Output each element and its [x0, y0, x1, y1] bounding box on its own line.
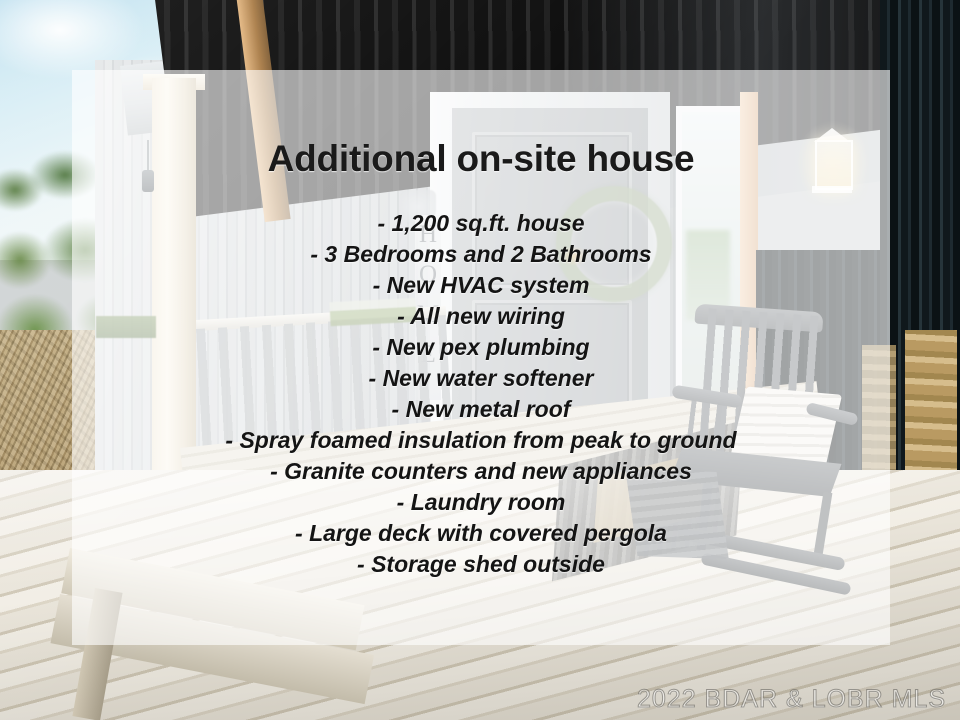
- listing-photo-slide: H O M E: [0, 0, 960, 720]
- list-item: - Laundry room: [72, 487, 890, 518]
- list-item: - New metal roof: [72, 394, 890, 425]
- list-item: - 1,200 sq.ft. house: [72, 208, 890, 239]
- list-item: - New water softener: [72, 363, 890, 394]
- feature-list: - 1,200 sq.ft. house - 3 Bedrooms and 2 …: [72, 208, 890, 580]
- list-item: - All new wiring: [72, 301, 890, 332]
- text-overlay-panel: Additional on-site house - 1,200 sq.ft. …: [72, 70, 890, 645]
- list-item: - Large deck with covered pergola: [72, 518, 890, 549]
- list-item: - Granite counters and new appliances: [72, 456, 890, 487]
- list-item: - New pex plumbing: [72, 332, 890, 363]
- list-item: - Storage shed outside: [72, 549, 890, 580]
- mls-watermark: 2022 BDAR & LOBR MLS: [637, 685, 946, 714]
- page-title: Additional on-site house: [72, 138, 890, 180]
- list-item: - New HVAC system: [72, 270, 890, 301]
- list-item: - Spray foamed insulation from peak to g…: [72, 425, 890, 456]
- list-item: - 3 Bedrooms and 2 Bathrooms: [72, 239, 890, 270]
